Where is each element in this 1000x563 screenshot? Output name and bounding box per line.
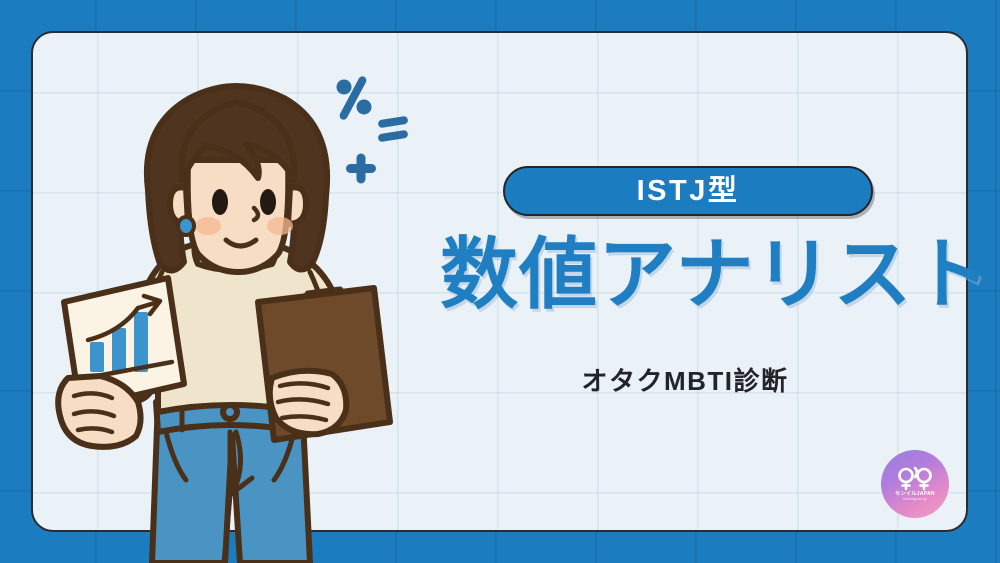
brand-logo: センイルJAPAN birthday-ad.jp	[881, 450, 949, 518]
page-subtitle: オタクMBTI診断	[440, 368, 930, 394]
page-title: 数値アナリスト	[440, 235, 930, 313]
type-badge-label: ISTJ型	[637, 177, 740, 206]
logo-mark-icon	[895, 466, 935, 492]
logo-subtext: birthday-ad.jp	[903, 498, 927, 502]
type-badge: ISTJ型	[503, 166, 873, 216]
poster-canvas: ISTJ型 数値アナリスト オタクMBTI診断 センイルJAPAN birthd…	[0, 0, 1000, 563]
plus-symbol	[346, 154, 376, 184]
math-symbols	[330, 68, 430, 193]
equals-symbol	[378, 116, 409, 143]
percent-symbol	[337, 75, 372, 121]
